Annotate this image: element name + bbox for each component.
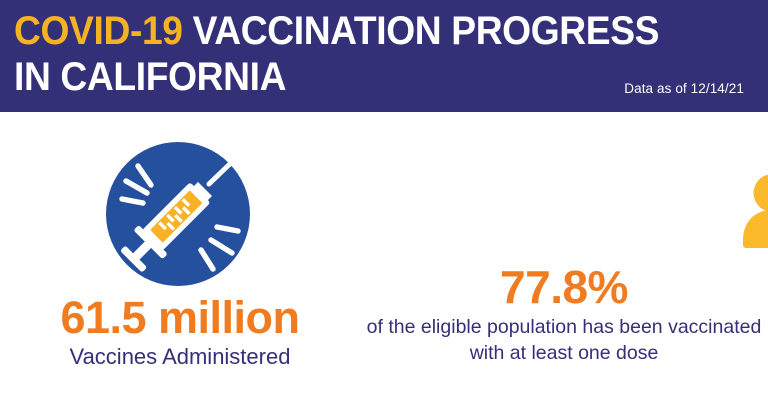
population-vaccinated-panel: 77.8% of the eligible population has bee…: [360, 112, 768, 403]
syringe-icon: [105, 141, 251, 287]
percent-vaccinated-value: 77.8%: [360, 262, 768, 312]
person-icon-filled-1: [740, 174, 768, 248]
vaccines-administered-label: Vaccines Administered: [0, 344, 360, 370]
page-title-highlight: COVID-19: [14, 9, 183, 53]
page-title: COVID-19 VACCINATION PROGRESS IN CALIFOR…: [14, 8, 702, 100]
vaccines-administered-value: 61.5 million: [0, 294, 360, 342]
vaccines-administered-panel: 61.5 million Vaccines Administered: [0, 112, 360, 403]
percent-vaccinated-label: of the eligible population has been vacc…: [364, 314, 764, 366]
people-pictogram: [740, 170, 768, 248]
header-bar: COVID-19 VACCINATION PROGRESS IN CALIFOR…: [0, 0, 768, 112]
data-as-of-note: Data as of 12/14/21: [624, 81, 744, 96]
infographic-root: COVID-19 VACCINATION PROGRESS IN CALIFOR…: [0, 0, 768, 403]
body-area: 61.5 million Vaccines Administered: [0, 112, 768, 403]
